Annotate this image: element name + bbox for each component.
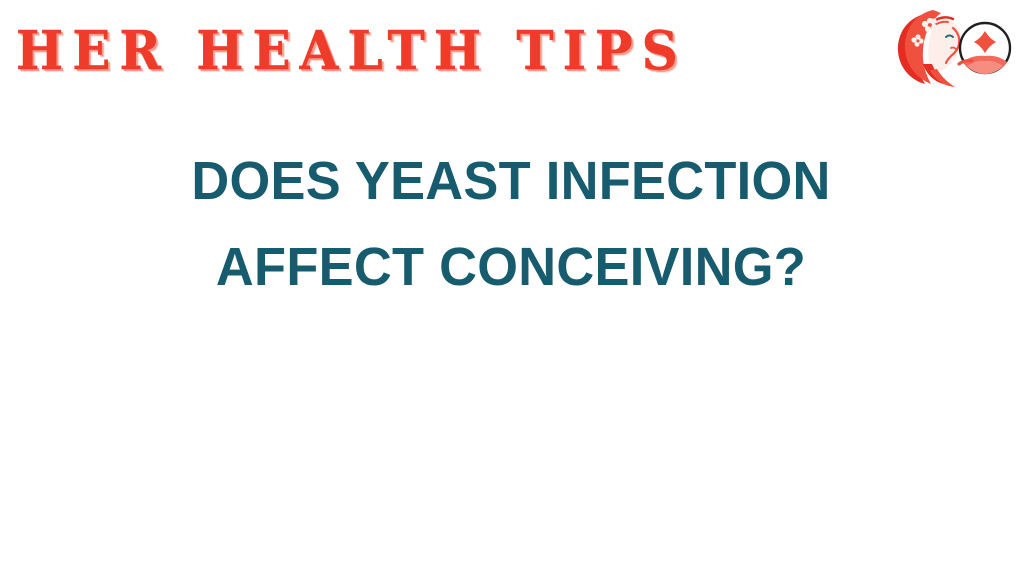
brand-wordmark: HER HEALTH TIPS xyxy=(16,20,687,81)
slide-canvas: HER HEALTH TIPS xyxy=(0,0,1024,576)
her-health-tips-logo-icon xyxy=(889,4,1015,92)
page-title: DOES YEAST INFECTION AFFECT CONCEIVING? xyxy=(0,138,1024,310)
woman-figure-icon xyxy=(898,10,961,87)
brand-header: HER HEALTH TIPS xyxy=(16,16,696,86)
content-area xyxy=(0,310,1024,576)
page-title-line-2: AFFECT CONCEIVING? xyxy=(15,224,1006,310)
brand-logo xyxy=(889,4,1015,92)
medical-cross-circle-icon xyxy=(959,23,1010,74)
page-title-line-1: DOES YEAST INFECTION xyxy=(15,138,1006,224)
